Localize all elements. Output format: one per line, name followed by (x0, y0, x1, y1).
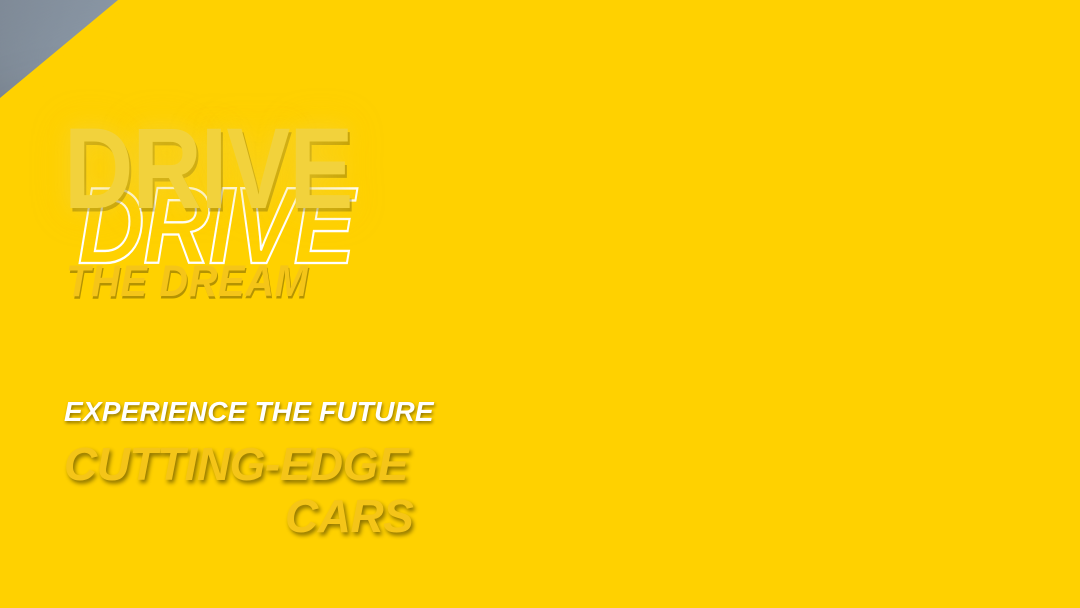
car-front-bumper (635, 468, 953, 490)
headline-main: DRIVE (64, 112, 352, 227)
car-grille-divider (813, 416, 820, 460)
lower-headline-line1: CUTTING-EDGE (64, 437, 408, 491)
car-headlight (888, 406, 936, 454)
car-headlight (663, 406, 711, 454)
car-front-rim (578, 432, 642, 496)
kicker-text: EXPERIENCE THE FUTURE (64, 396, 434, 428)
car-driver-arm (425, 322, 464, 338)
car-side-mirror (486, 341, 516, 354)
diagonal-stripe-band-bottom (703, 538, 1015, 563)
car-hood-highlight (670, 360, 910, 376)
photo-car (425, 226, 980, 516)
car-driver-face (476, 308, 494, 334)
lower-headline-line2: CARS (285, 489, 413, 543)
promo-banner: DRIVE DRIVE THE DREAM EXPERIENCE THE FUT… (0, 0, 1080, 608)
diagonal-stripe-band-top (100, 46, 510, 75)
headline-sub: THE DREAM (66, 257, 308, 307)
car-license-plate (830, 458, 886, 492)
car-bumper-gap (635, 461, 953, 466)
car-windshield (529, 282, 719, 356)
car-photo-card (425, 48, 1027, 557)
